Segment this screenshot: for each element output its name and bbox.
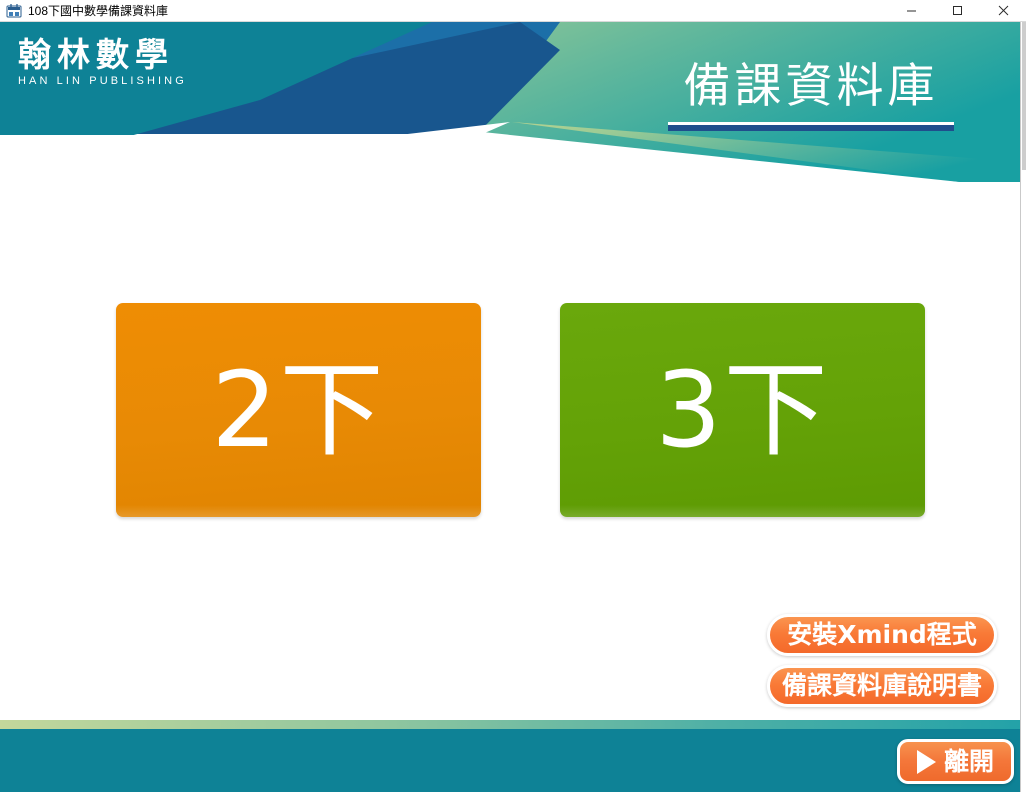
exit-button[interactable]: 離開 xyxy=(897,739,1014,784)
grade-card-3b[interactable]: 3下 xyxy=(560,303,925,517)
window-title: 108下國中數學備課資料庫 xyxy=(28,2,168,19)
footer-bar xyxy=(0,729,1020,792)
exit-button-label: 離開 xyxy=(944,748,994,775)
application-window: 108下國中數學備課資料庫 xyxy=(0,0,1026,792)
brand-logo-english: HAN LIN PUBLISHING xyxy=(18,75,258,88)
vertical-scrollbar[interactable] xyxy=(1020,22,1026,792)
install-xmind-label: 安裝Xmind程式 xyxy=(787,622,977,648)
utility-button-group: 安裝Xmind程式 備課資料庫說明書 xyxy=(767,614,997,707)
manual-button[interactable]: 備課資料庫說明書 xyxy=(767,665,997,707)
grade-card-group: 2下 3下 xyxy=(116,303,926,517)
maximize-button[interactable] xyxy=(934,0,980,21)
page-title-underline xyxy=(668,122,954,131)
grade-card-2b[interactable]: 2下 xyxy=(116,303,481,517)
minimize-button[interactable] xyxy=(888,0,934,21)
app-icon xyxy=(6,3,22,19)
manual-label: 備課資料庫說明書 xyxy=(782,673,982,699)
vertical-scrollbar-thumb[interactable] xyxy=(1022,22,1026,170)
window-controls xyxy=(888,0,1026,22)
install-xmind-button[interactable]: 安裝Xmind程式 xyxy=(767,614,997,656)
play-icon xyxy=(917,750,936,774)
page-title-text: 備課資料庫 xyxy=(668,58,954,116)
page-title: 備課資料庫 xyxy=(668,58,954,131)
title-bar: 108下國中數學備課資料庫 xyxy=(0,0,1026,22)
grade-card-2b-label: 2下 xyxy=(211,358,385,462)
brand-logo-chinese: 翰林數學 xyxy=(18,36,258,74)
grade-card-3b-label: 3下 xyxy=(655,358,829,462)
close-button[interactable] xyxy=(980,0,1026,21)
header-banner: 翰林數學 HAN LIN PUBLISHING 備課資料庫 xyxy=(0,22,1026,182)
main-content: 2下 3下 安裝Xmind程式 備課資料庫說明書 xyxy=(0,182,1020,720)
footer-accent-strip xyxy=(0,720,1020,729)
brand-logo: 翰林數學 HAN LIN PUBLISHING xyxy=(18,36,258,88)
